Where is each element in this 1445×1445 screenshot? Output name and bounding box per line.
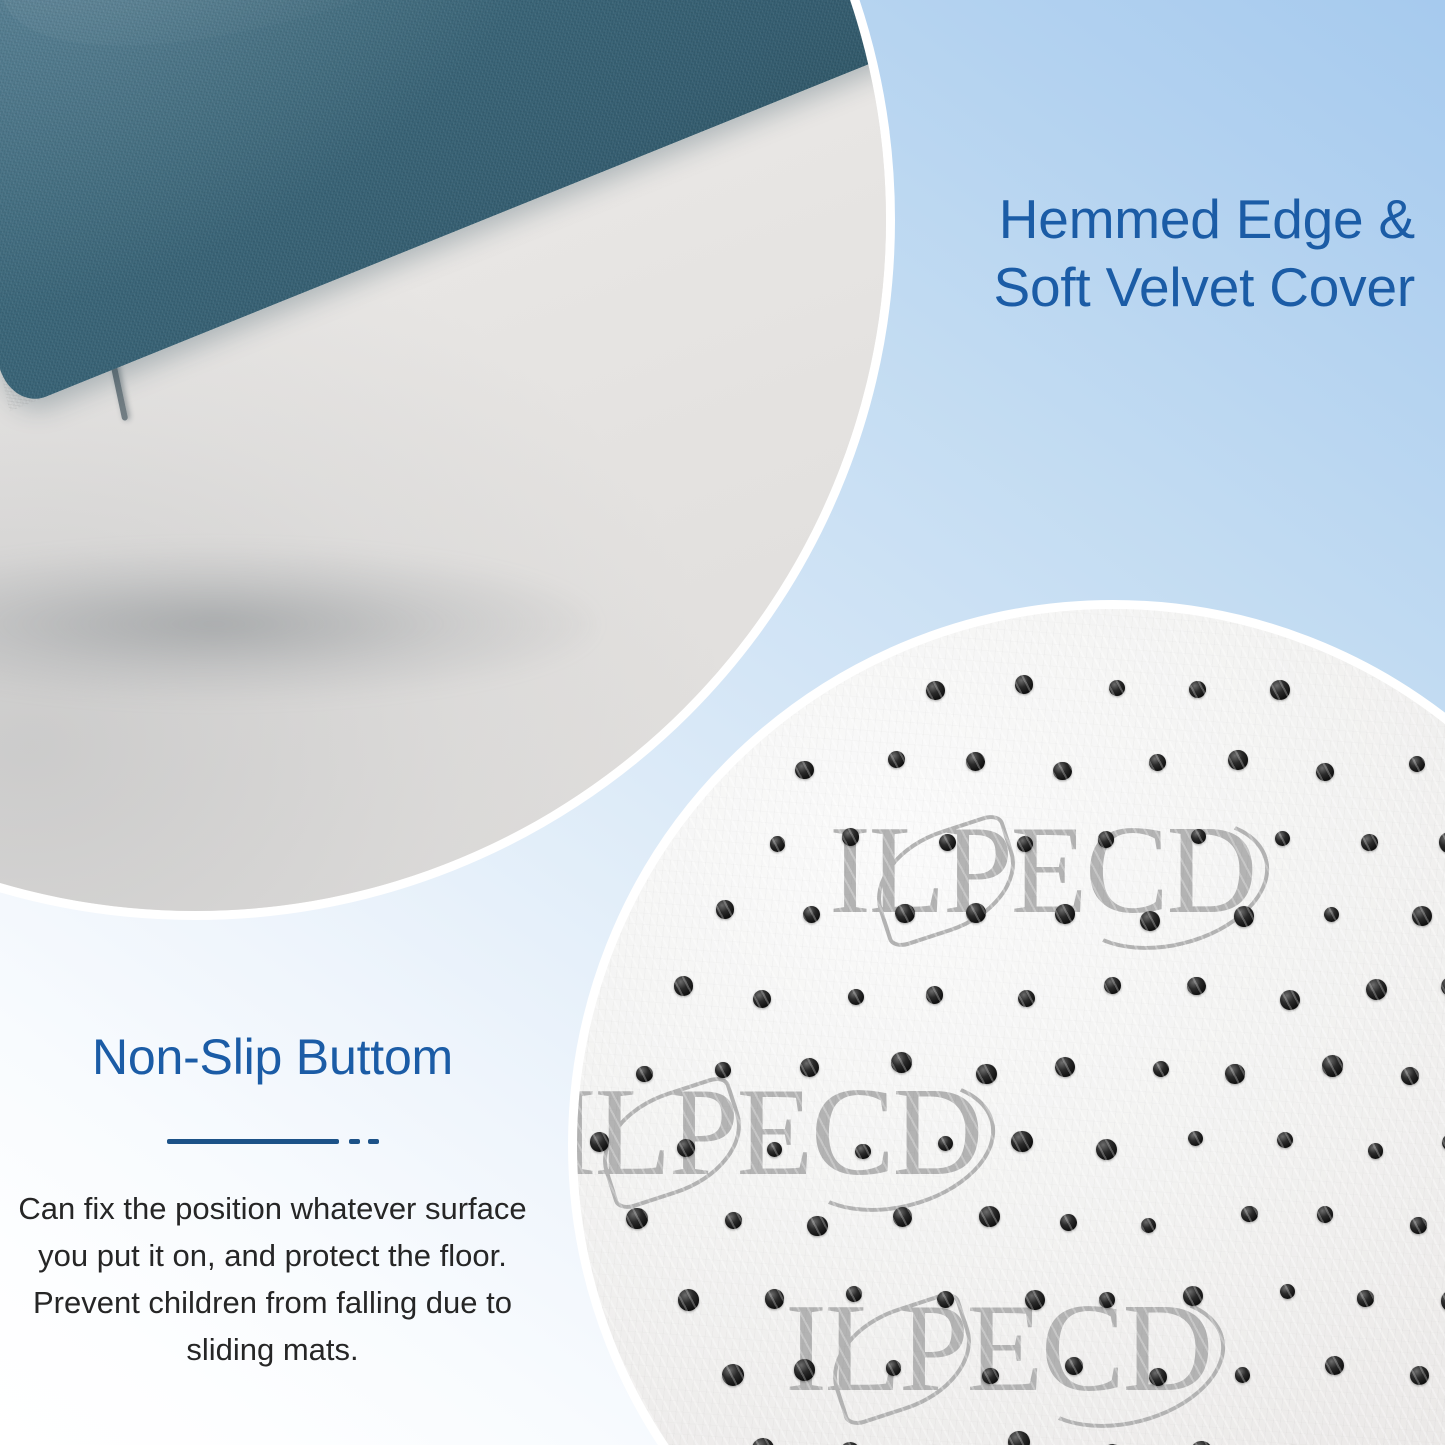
anti-slip-dot [1025,1290,1045,1310]
anti-slip-dot [855,1144,870,1159]
anti-slip-dot [1189,681,1206,698]
cushion-highlight-sheen [0,0,875,136]
anti-slip-dot [1322,1055,1343,1076]
anti-slip-dot [767,1142,782,1157]
anti-slip-dot [1280,1284,1295,1299]
anti-slip-dot [846,1286,863,1303]
leaf-flourish-icon [817,1289,987,1429]
anti-slip-dot [1149,754,1166,771]
feature-title: Non-Slip Buttom [0,1030,545,1085]
divider-tick [349,1139,360,1144]
anti-slip-dot [1275,831,1290,846]
anti-slip-dot [848,989,864,1005]
anti-slip-dot [677,1139,695,1157]
anti-slip-dot [1357,1290,1373,1306]
anti-slip-dot [1368,1143,1383,1158]
anti-slip-dot [807,1216,827,1236]
divider-bar [167,1139,339,1144]
cushion-top-face [0,0,895,411]
anti-slip-dot [794,1359,816,1381]
anti-slip-dot [1055,904,1075,924]
anti-slip-dot [891,1052,912,1073]
anti-slip-dot [753,990,771,1008]
anti-slip-dot [1098,831,1114,847]
anti-slip-dot [1149,1368,1167,1386]
anti-slip-dot [1316,763,1334,781]
mat-brand-watermark-text: ILPECD [829,801,1255,940]
anti-slip-dot [1191,829,1206,844]
anti-slip-dot [1361,834,1378,851]
anti-slip-dot [1011,1131,1032,1152]
anti-slip-dot [1053,762,1071,780]
anti-slip-dot [1235,1367,1251,1383]
leaf-flourish-icon [587,1073,757,1213]
non-slip-mat-photo-circle: ILPECD ILPECD ILPECD [568,600,1445,1445]
feature-description: Can fix the position whatever surface yo… [18,1185,528,1373]
anti-slip-dot [626,1208,647,1229]
anti-slip-dot [1187,977,1205,995]
anti-slip-dot [725,1212,742,1229]
anti-slip-dot [1096,1139,1117,1160]
anti-slip-dot [1099,1292,1115,1308]
anti-slip-dot [1441,1290,1445,1312]
anti-slip-dot [926,986,944,1004]
cushion-contact-shadow [0,549,594,699]
anti-slip-dot [1017,836,1033,852]
anti-slip-dot [938,1136,953,1151]
anti-slip-dot [590,1132,609,1151]
anti-slip-dot [1325,1356,1344,1375]
anti-slip-dot [722,1364,744,1386]
anti-slip-dot [1410,1217,1426,1233]
anti-slip-dot [1018,990,1035,1007]
anti-slip-dot [1410,1366,1429,1385]
anti-slip-dot [765,1289,784,1308]
anti-slip-dot [1324,907,1339,922]
feature-divider [167,1139,379,1145]
anti-slip-dot [636,1066,653,1083]
divider-tick [368,1139,379,1144]
anti-slip-dot [895,904,915,924]
anti-slip-dot [1401,1067,1419,1085]
anti-slip-dot [842,828,860,846]
swash-flourish-icon [781,1060,1009,1232]
anti-slip-dot [674,976,693,995]
anti-slip-dot [886,1360,902,1376]
anti-slip-dot [1183,1286,1203,1306]
anti-slip-dot [716,900,735,919]
anti-slip-dot [1270,680,1290,700]
anti-slip-dot [1234,906,1255,927]
anti-slip-dot [1225,1064,1244,1083]
swash-flourish-icon [1055,798,1283,970]
anti-slip-dot [803,906,820,923]
anti-slip-dot [1060,1214,1077,1231]
anti-slip-dot [795,761,813,779]
anti-slip-dot [893,1207,913,1227]
mat-brand-watermark-text: ILPECD [568,1063,981,1202]
feature-callout: Non-Slip Buttom Can fix the position wha… [0,1030,545,1373]
anti-slip-dot [752,1438,774,1445]
mat-fabric-surface: ILPECD ILPECD ILPECD [577,609,1445,1445]
anti-slip-dot [1412,906,1432,926]
anti-slip-dot [770,836,785,851]
anti-slip-dot [926,681,944,699]
anti-slip-dot [1439,832,1445,852]
anti-slip-dot [982,1368,999,1385]
headline-line-2: Soft Velvet Cover [775,254,1415,322]
anti-slip-dot [1228,750,1248,770]
anti-slip-dot [1409,756,1425,772]
anti-slip-dot [1015,675,1033,693]
anti-slip-dot [715,1062,731,1078]
swash-flourish-icon [1011,1276,1239,1445]
anti-slip-dot [1280,990,1300,1010]
anti-slip-dot [1241,1206,1257,1222]
anti-slip-dot [1441,977,1445,996]
mat-brand-watermark: ILPECD [568,1061,981,1205]
mat-brand-watermark: ILPECD [785,1277,1211,1421]
anti-slip-dot [976,1064,997,1085]
anti-slip-dot [1188,1131,1203,1146]
anti-slip-dot [937,1291,954,1308]
mat-brand-watermark-text: ILPECD [785,1279,1211,1418]
anti-slip-dot [1140,911,1160,931]
anti-slip-dot [800,1058,820,1078]
anti-slip-dot [939,834,956,851]
anti-slip-dot [1008,1431,1029,1445]
product-feature-graphic: ILPECD ILPECD ILPECD Hemmed Edge & Soft … [0,0,1445,1445]
anti-slip-dot [1055,1057,1075,1077]
anti-slip-dot [1104,977,1121,994]
headline-line-1: Hemmed Edge & [775,186,1415,254]
anti-slip-dot [678,1289,700,1311]
anti-slip-dot [1109,680,1125,696]
anti-slip-dot [966,903,986,923]
leaf-flourish-icon [861,811,1031,951]
anti-slip-dot [1191,1441,1212,1445]
anti-slip-dot [1366,979,1387,1000]
anti-slip-dot [1153,1061,1169,1077]
anti-slip-dot [1317,1206,1333,1222]
anti-slip-dot [1065,1357,1083,1375]
anti-slip-dot [888,751,905,768]
anti-slip-dot [1141,1218,1156,1233]
anti-slip-dot [966,752,985,771]
mat-brand-watermark: ILPECD [829,799,1255,943]
page-title: Hemmed Edge & Soft Velvet Cover [775,186,1415,321]
anti-slip-dot [1277,1132,1293,1148]
anti-slip-dot [979,1206,1000,1227]
